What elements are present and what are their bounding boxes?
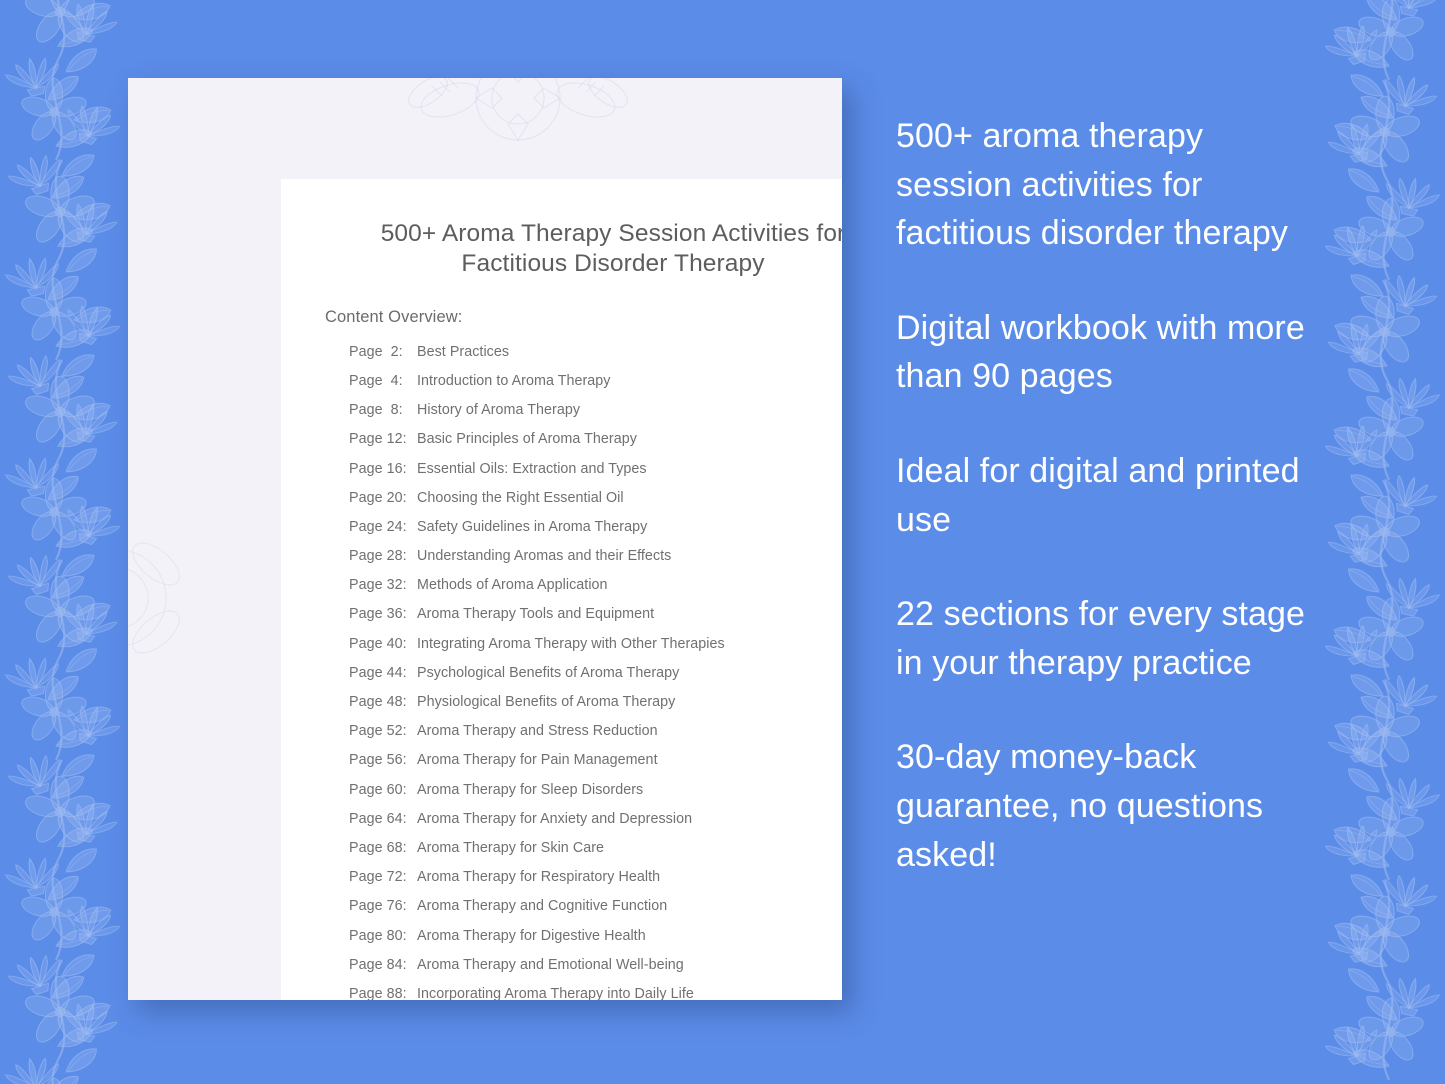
toc-entry-page: Page 84: [349,958,417,972]
toc-entry-page: Page 16: [349,462,417,476]
toc-entry-topic: Aroma Therapy for Digestive Health [417,929,842,943]
toc-entry: Page 72:Aroma Therapy for Respiratory He… [349,870,842,899]
toc-entry-topic: Psychological Benefits of Aroma Therapy [417,666,842,680]
toc-entry-topic: Essential Oils: Extraction and Types [417,462,842,476]
toc-entry: Page 4:Introduction to Aroma Therapy [349,374,842,403]
toc-entry-topic: Aroma Therapy Tools and Equipment [417,607,842,621]
toc-entry-topic: Aroma Therapy and Cognitive Function [417,899,842,913]
toc-entry-page: Page 80: [349,929,417,943]
toc-entry: Page 36:Aroma Therapy Tools and Equipmen… [349,607,842,636]
toc-entry-page: Page 52: [349,724,417,738]
toc-entry: Page 64:Aroma Therapy for Anxiety and De… [349,812,842,841]
toc-entry-page: Page 32: [349,578,417,592]
toc-entry-page: Page 8: [349,403,417,417]
toc-entry: Page 76:Aroma Therapy and Cognitive Func… [349,899,842,928]
marketing-bullet: Ideal for digital and printed use [896,447,1316,544]
toc-entry-topic: Best Practices [417,345,842,359]
toc-entry-page: Page 64: [349,812,417,826]
toc-entry-page: Page 2: [349,345,417,359]
marketing-bullet: 22 sections for every stage in your ther… [896,590,1316,687]
toc-entry-topic: Integrating Aroma Therapy with Other The… [417,637,842,651]
toc-entry-topic: Choosing the Right Essential Oil [417,491,842,505]
toc-entry: Page 16:Essential Oils: Extraction and T… [349,462,842,491]
toc-entry-topic: Basic Principles of Aroma Therapy [417,432,842,446]
toc-entry-page: Page 20: [349,491,417,505]
document-title: 500+ Aroma Therapy Session Activities fo… [281,179,842,279]
toc-entry: Page 8:History of Aroma Therapy [349,403,842,432]
marketing-bullet: 500+ aroma therapy session activities fo… [896,112,1316,258]
toc-entry: Page 88:Incorporating Aroma Therapy into… [349,987,842,1000]
toc-entry-topic: Incorporating Aroma Therapy into Daily L… [417,987,842,1000]
toc-entry-topic: Aroma Therapy and Stress Reduction [417,724,842,738]
toc-entry-page: Page 48: [349,695,417,709]
toc-entry-page: Page 12: [349,432,417,446]
toc-entry-page: Page 72: [349,870,417,884]
mandala-watermark-left-icon [128,498,198,698]
toc-entry: Page 52:Aroma Therapy and Stress Reducti… [349,724,842,753]
toc-entry: Page 12:Basic Principles of Aroma Therap… [349,432,842,461]
toc-entry-page: Page 76: [349,899,417,913]
toc-entry-topic: Physiological Benefits of Aroma Therapy [417,695,842,709]
toc-entry-topic: Aroma Therapy for Skin Care [417,841,842,855]
toc-entry: Page 32:Methods of Aroma Application [349,578,842,607]
toc-entry-page: Page 44: [349,666,417,680]
toc-entry-topic: Methods of Aroma Application [417,578,842,592]
toc-entry: Page 80:Aroma Therapy for Digestive Heal… [349,929,842,958]
toc-entry-topic: Understanding Aromas and their Effects [417,549,842,563]
toc-entry-page: Page 88: [349,987,417,1000]
toc-entry-topic: Aroma Therapy for Anxiety and Depression [417,812,842,826]
toc-entry: Page 60:Aroma Therapy for Sleep Disorder… [349,783,842,812]
toc-entry-page: Page 60: [349,783,417,797]
toc-entry-topic: Aroma Therapy and Emotional Well-being [417,958,842,972]
toc-entry-page: Page 56: [349,753,417,767]
poster-canvas: 500+ Aroma Therapy Session Activities fo… [0,0,1445,1084]
toc-entry-page: Page 36: [349,607,417,621]
document-page: 500+ Aroma Therapy Session Activities fo… [281,179,842,1000]
floral-border-right-icon [1315,0,1445,1084]
mandala-watermark-top-icon [368,78,668,192]
floral-border-left-icon [0,0,130,1084]
toc-entry-topic: Aroma Therapy for Respiratory Health [417,870,842,884]
toc-entry: Page 40:Integrating Aroma Therapy with O… [349,637,842,666]
marketing-bullet: Digital workbook with more than 90 pages [896,304,1316,401]
toc-entry: Page 44:Psychological Benefits of Aroma … [349,666,842,695]
toc-entry-page: Page 40: [349,637,417,651]
toc-entry-topic: Introduction to Aroma Therapy [417,374,842,388]
toc-entry: Page 24:Safety Guidelines in Aroma Thera… [349,520,842,549]
content-overview-label: Content Overview: [281,279,842,327]
marketing-bullet: 30-day money-back guarantee, no question… [896,733,1316,879]
toc-entry: Page 48:Physiological Benefits of Aroma … [349,695,842,724]
toc-entry-topic: Aroma Therapy for Sleep Disorders [417,783,842,797]
table-of-contents: Page 2:Best PracticesPage 4:Introduction… [281,327,842,1000]
toc-entry-topic: Safety Guidelines in Aroma Therapy [417,520,842,534]
marketing-bullets: 500+ aroma therapy session activities fo… [896,112,1316,879]
toc-entry: Page 2:Best Practices [349,345,842,374]
toc-entry-page: Page 28: [349,549,417,563]
toc-entry: Page 68:Aroma Therapy for Skin Care [349,841,842,870]
toc-entry-page: Page 4: [349,374,417,388]
toc-entry: Page 56:Aroma Therapy for Pain Managemen… [349,753,842,782]
toc-entry: Page 84:Aroma Therapy and Emotional Well… [349,958,842,987]
document-card: 500+ Aroma Therapy Session Activities fo… [128,78,842,1000]
toc-entry-topic: History of Aroma Therapy [417,403,842,417]
toc-entry: Page 20:Choosing the Right Essential Oil [349,491,842,520]
toc-entry-topic: Aroma Therapy for Pain Management [417,753,842,767]
toc-entry-page: Page 24: [349,520,417,534]
toc-entry-page: Page 68: [349,841,417,855]
toc-entry: Page 28:Understanding Aromas and their E… [349,549,842,578]
